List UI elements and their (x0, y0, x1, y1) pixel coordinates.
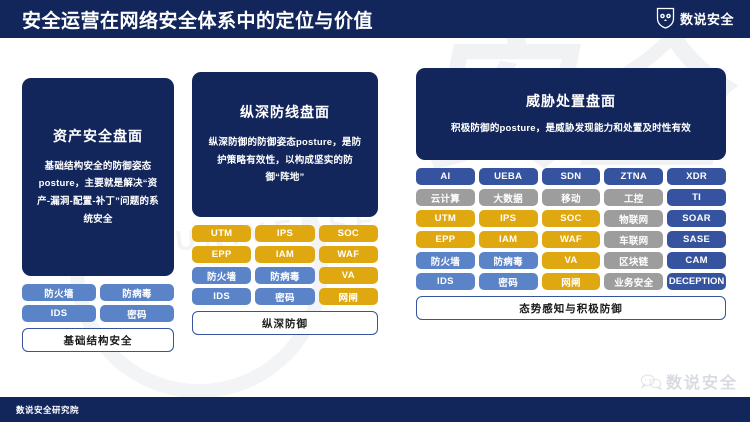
card-asset-security: 资产安全盘面 基础结构安全的防御姿态posture，主要就是解决“资产-漏洞-配… (22, 78, 174, 276)
tag-grid-defense-in-depth: UTMIPSSOCEPPIAMWAF防火墙防病毒VAIDS密码网闸 (192, 225, 378, 305)
tag-item[interactable]: ZTNA (604, 168, 663, 185)
tag-item[interactable]: WAF (542, 231, 601, 248)
tag-item[interactable]: TI (667, 189, 726, 206)
tag-item[interactable]: 密码 (479, 273, 538, 290)
panel-footer-label: 基础结构安全 (22, 328, 174, 352)
tag-item[interactable]: 物联网 (604, 210, 663, 227)
card-description: 基础结构安全的防御姿态posture，主要就是解决“资产-漏洞-配置-补丁”问题… (36, 158, 160, 228)
tag-item[interactable]: 云计算 (416, 189, 475, 206)
panel-asset-security: 资产安全盘面 基础结构安全的防御姿态posture，主要就是解决“资产-漏洞-配… (22, 78, 174, 352)
tag-item[interactable]: EPP (192, 246, 251, 263)
tag-item[interactable]: 防火墙 (416, 252, 475, 269)
tag-item[interactable]: 防病毒 (255, 267, 314, 284)
tag-item[interactable]: IDS (22, 305, 96, 322)
tag-grid-asset-security: 防火墙防病毒IDS密码 (22, 284, 174, 322)
card-title: 纵深防线盘面 (206, 102, 364, 122)
tag-item[interactable]: IDS (192, 288, 251, 305)
tag-grid-threat-response: AIUEBASDNZTNAXDR云计算大数据移动工控TIUTMIPSSOC物联网… (416, 168, 726, 290)
brand-name: 数说安全 (680, 9, 734, 28)
tag-item[interactable]: IPS (255, 225, 314, 242)
tag-item[interactable]: UTM (192, 225, 251, 242)
wechat-bubble-icon (640, 373, 662, 390)
tag-item[interactable]: IPS (479, 210, 538, 227)
card-title: 威胁处置盘面 (430, 91, 712, 111)
tag-item[interactable]: EPP (416, 231, 475, 248)
slide-footer-bar: 数说安全研究院 (0, 397, 750, 422)
brand-logo: 数说安全 (656, 7, 734, 29)
tag-item[interactable]: IAM (479, 231, 538, 248)
tag-item[interactable]: VA (542, 252, 601, 269)
tag-item[interactable]: WAF (319, 246, 378, 263)
tag-item[interactable]: 防病毒 (479, 252, 538, 269)
tag-item[interactable]: 业务安全 (604, 273, 663, 290)
panel-footer-label: 纵深防御 (192, 311, 378, 335)
card-defense-in-depth: 纵深防线盘面 纵深防御的防御姿态posture，是防护策略有效性，以构成坚实的防… (192, 72, 378, 217)
watermark-brand-name: 数说安全 (666, 369, 738, 393)
tag-item[interactable]: CAM (667, 252, 726, 269)
watermark-brand: 数说安全 (640, 369, 738, 393)
tag-item[interactable]: XDR (667, 168, 726, 185)
tag-item[interactable]: 密码 (100, 305, 174, 322)
card-title: 资产安全盘面 (36, 126, 160, 146)
tag-item[interactable]: UTM (416, 210, 475, 227)
tag-item[interactable]: 密码 (255, 288, 314, 305)
tag-item[interactable]: IAM (255, 246, 314, 263)
page-title: 安全运营在网络安全体系中的定位与价值 (22, 6, 373, 33)
tag-item[interactable]: VA (319, 267, 378, 284)
tag-item[interactable]: AI (416, 168, 475, 185)
tag-item[interactable]: DECEPTION (667, 273, 726, 290)
panel-footer-label: 态势感知与积极防御 (416, 296, 726, 320)
card-threat-response: 威胁处置盘面 积极防御的posture，是威胁发现能力和处置及时性有效 (416, 68, 726, 160)
tag-item[interactable]: SDN (542, 168, 601, 185)
footer-label: 数说安全研究院 (16, 404, 79, 416)
card-description: 积极防御的posture，是威胁发现能力和处置及时性有效 (430, 121, 712, 136)
tag-item[interactable]: SOC (319, 225, 378, 242)
tag-item[interactable]: 区块链 (604, 252, 663, 269)
tag-item[interactable]: 移动 (542, 189, 601, 206)
tag-item[interactable]: 工控 (604, 189, 663, 206)
tag-item[interactable]: SOC (542, 210, 601, 227)
tag-item[interactable]: 网闸 (319, 288, 378, 305)
owl-shield-icon (656, 7, 675, 29)
panel-defense-in-depth: 纵深防线盘面 纵深防御的防御姿态posture，是防护策略有效性，以构成坚实的防… (192, 72, 378, 335)
tag-item[interactable]: 大数据 (479, 189, 538, 206)
tag-item[interactable]: UEBA (479, 168, 538, 185)
tag-item[interactable]: 防火墙 (22, 284, 96, 301)
slide-header: 安全运营在网络安全体系中的定位与价值 数说安全 (0, 0, 750, 38)
tag-item[interactable]: SASE (667, 231, 726, 248)
slide-canvas: 安全 UNIVERSE 安全运营在网络安全体系中的定位与价值 数说安全 资产安全… (0, 0, 750, 422)
card-description: 纵深防御的防御姿态posture，是防护策略有效性，以构成坚实的防御“阵地” (206, 134, 364, 187)
tag-item[interactable]: 防病毒 (100, 284, 174, 301)
tag-item[interactable]: IDS (416, 273, 475, 290)
tag-item[interactable]: 网闸 (542, 273, 601, 290)
tag-item[interactable]: SOAR (667, 210, 726, 227)
tag-item[interactable]: 防火墙 (192, 267, 251, 284)
tag-item[interactable]: 车联网 (604, 231, 663, 248)
panel-threat-response: 威胁处置盘面 积极防御的posture，是威胁发现能力和处置及时性有效 AIUE… (416, 68, 726, 320)
